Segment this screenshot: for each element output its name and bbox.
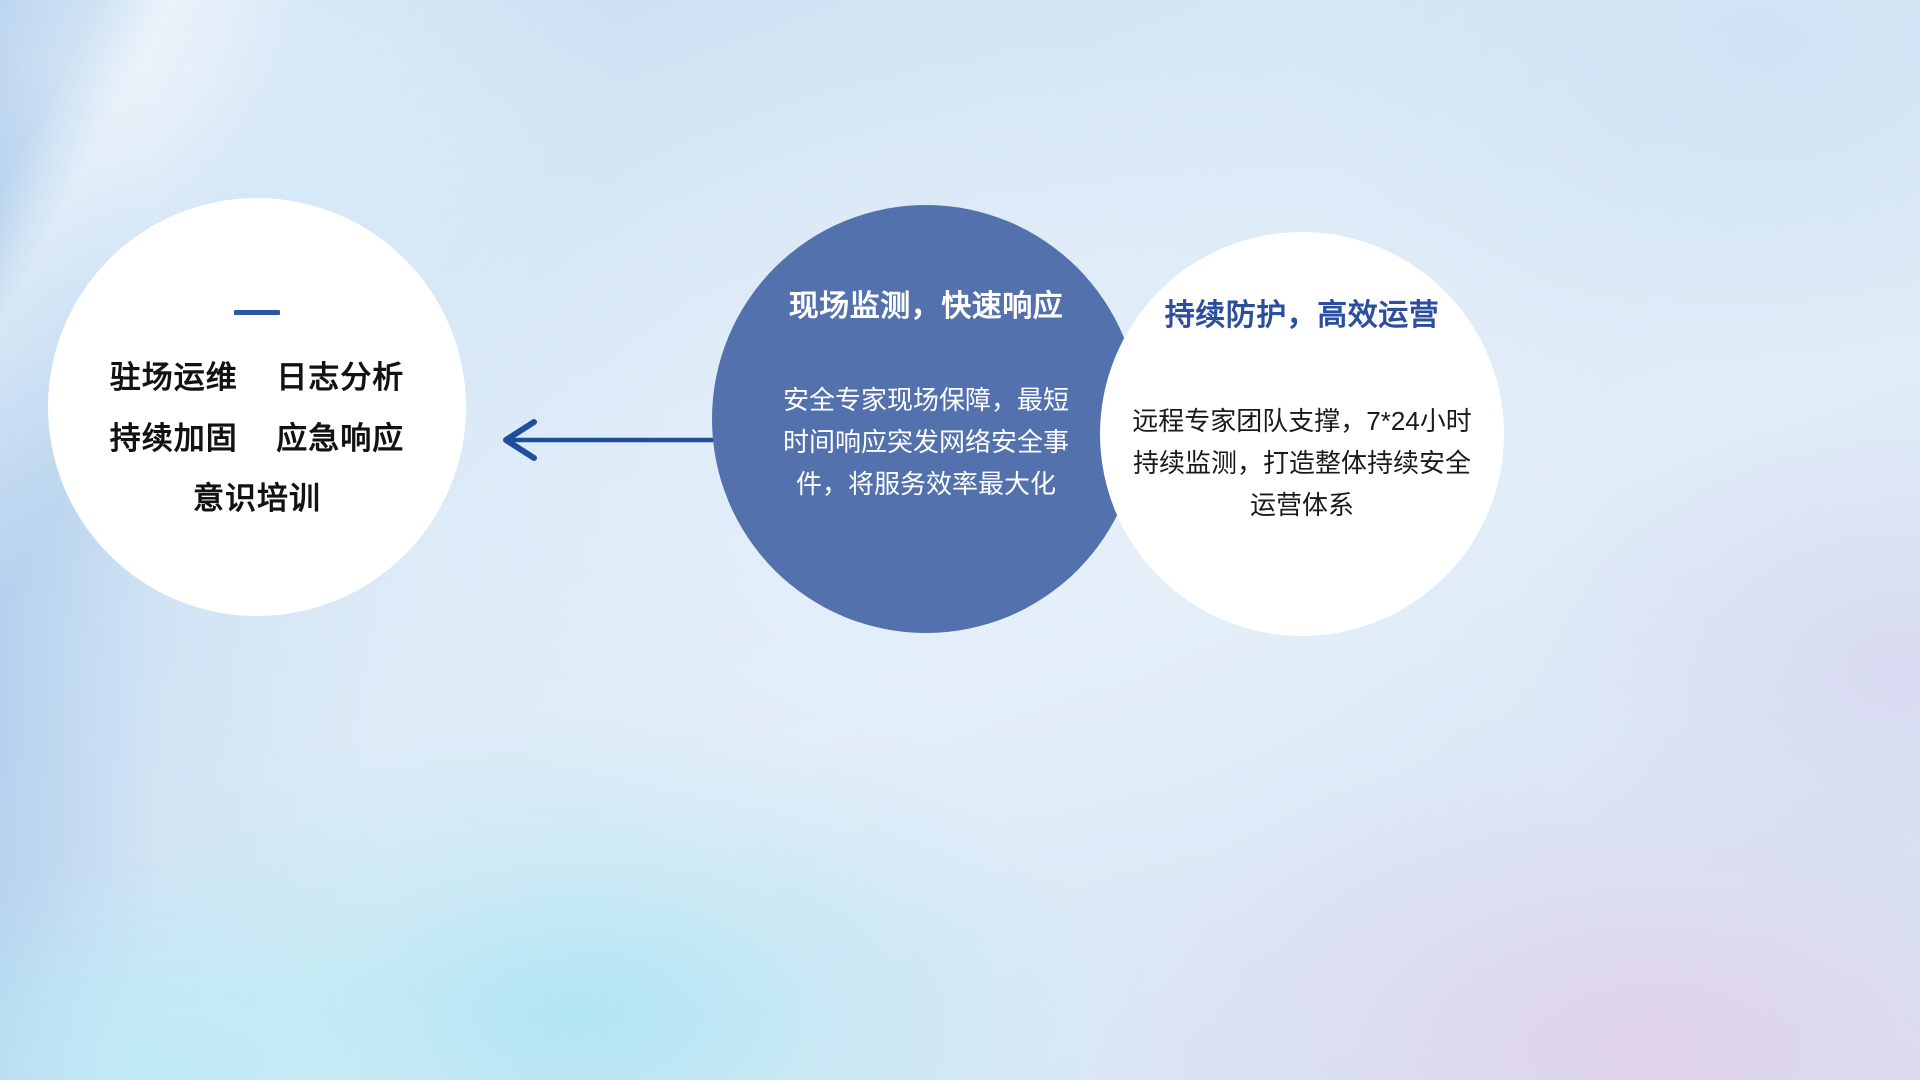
capability-line-2: 持续加固 应急响应	[110, 423, 404, 456]
capability-circle-left[interactable]: 驻场运维 日志分析 持续加固 应急响应 意识培训	[48, 198, 466, 616]
middle-circle-title: 现场监测，快速响应	[789, 289, 1064, 325]
right-circle-title: 持续防护，高效运营	[1165, 298, 1440, 334]
middle-circle-body: 安全专家现场保障，最短时间响应突发网络安全事件，将服务效率最大化	[776, 379, 1076, 505]
capability-line-3: 意识培训	[193, 483, 321, 516]
flow-arrow-icon	[490, 408, 720, 472]
feature-circle-continuous-protection[interactable]: 持续防护，高效运营 远程专家团队支撑，7*24小时持续监测，打造整体持续安全运营…	[1100, 232, 1504, 636]
capability-line-1: 驻场运维 日志分析	[110, 362, 404, 395]
right-circle-body: 远程专家团队支撑，7*24小时持续监测，打造整体持续安全运营体系	[1132, 400, 1472, 526]
title-divider-dash	[234, 310, 280, 315]
slide-canvas: 驻场运维 日志分析 持续加固 应急响应 意识培训 现场监测，快速响应 安全专家现…	[0, 0, 1920, 1080]
feature-circle-onsite-monitoring[interactable]: 现场监测，快速响应 安全专家现场保障，最短时间响应突发网络安全事件，将服务效率最…	[712, 205, 1140, 633]
